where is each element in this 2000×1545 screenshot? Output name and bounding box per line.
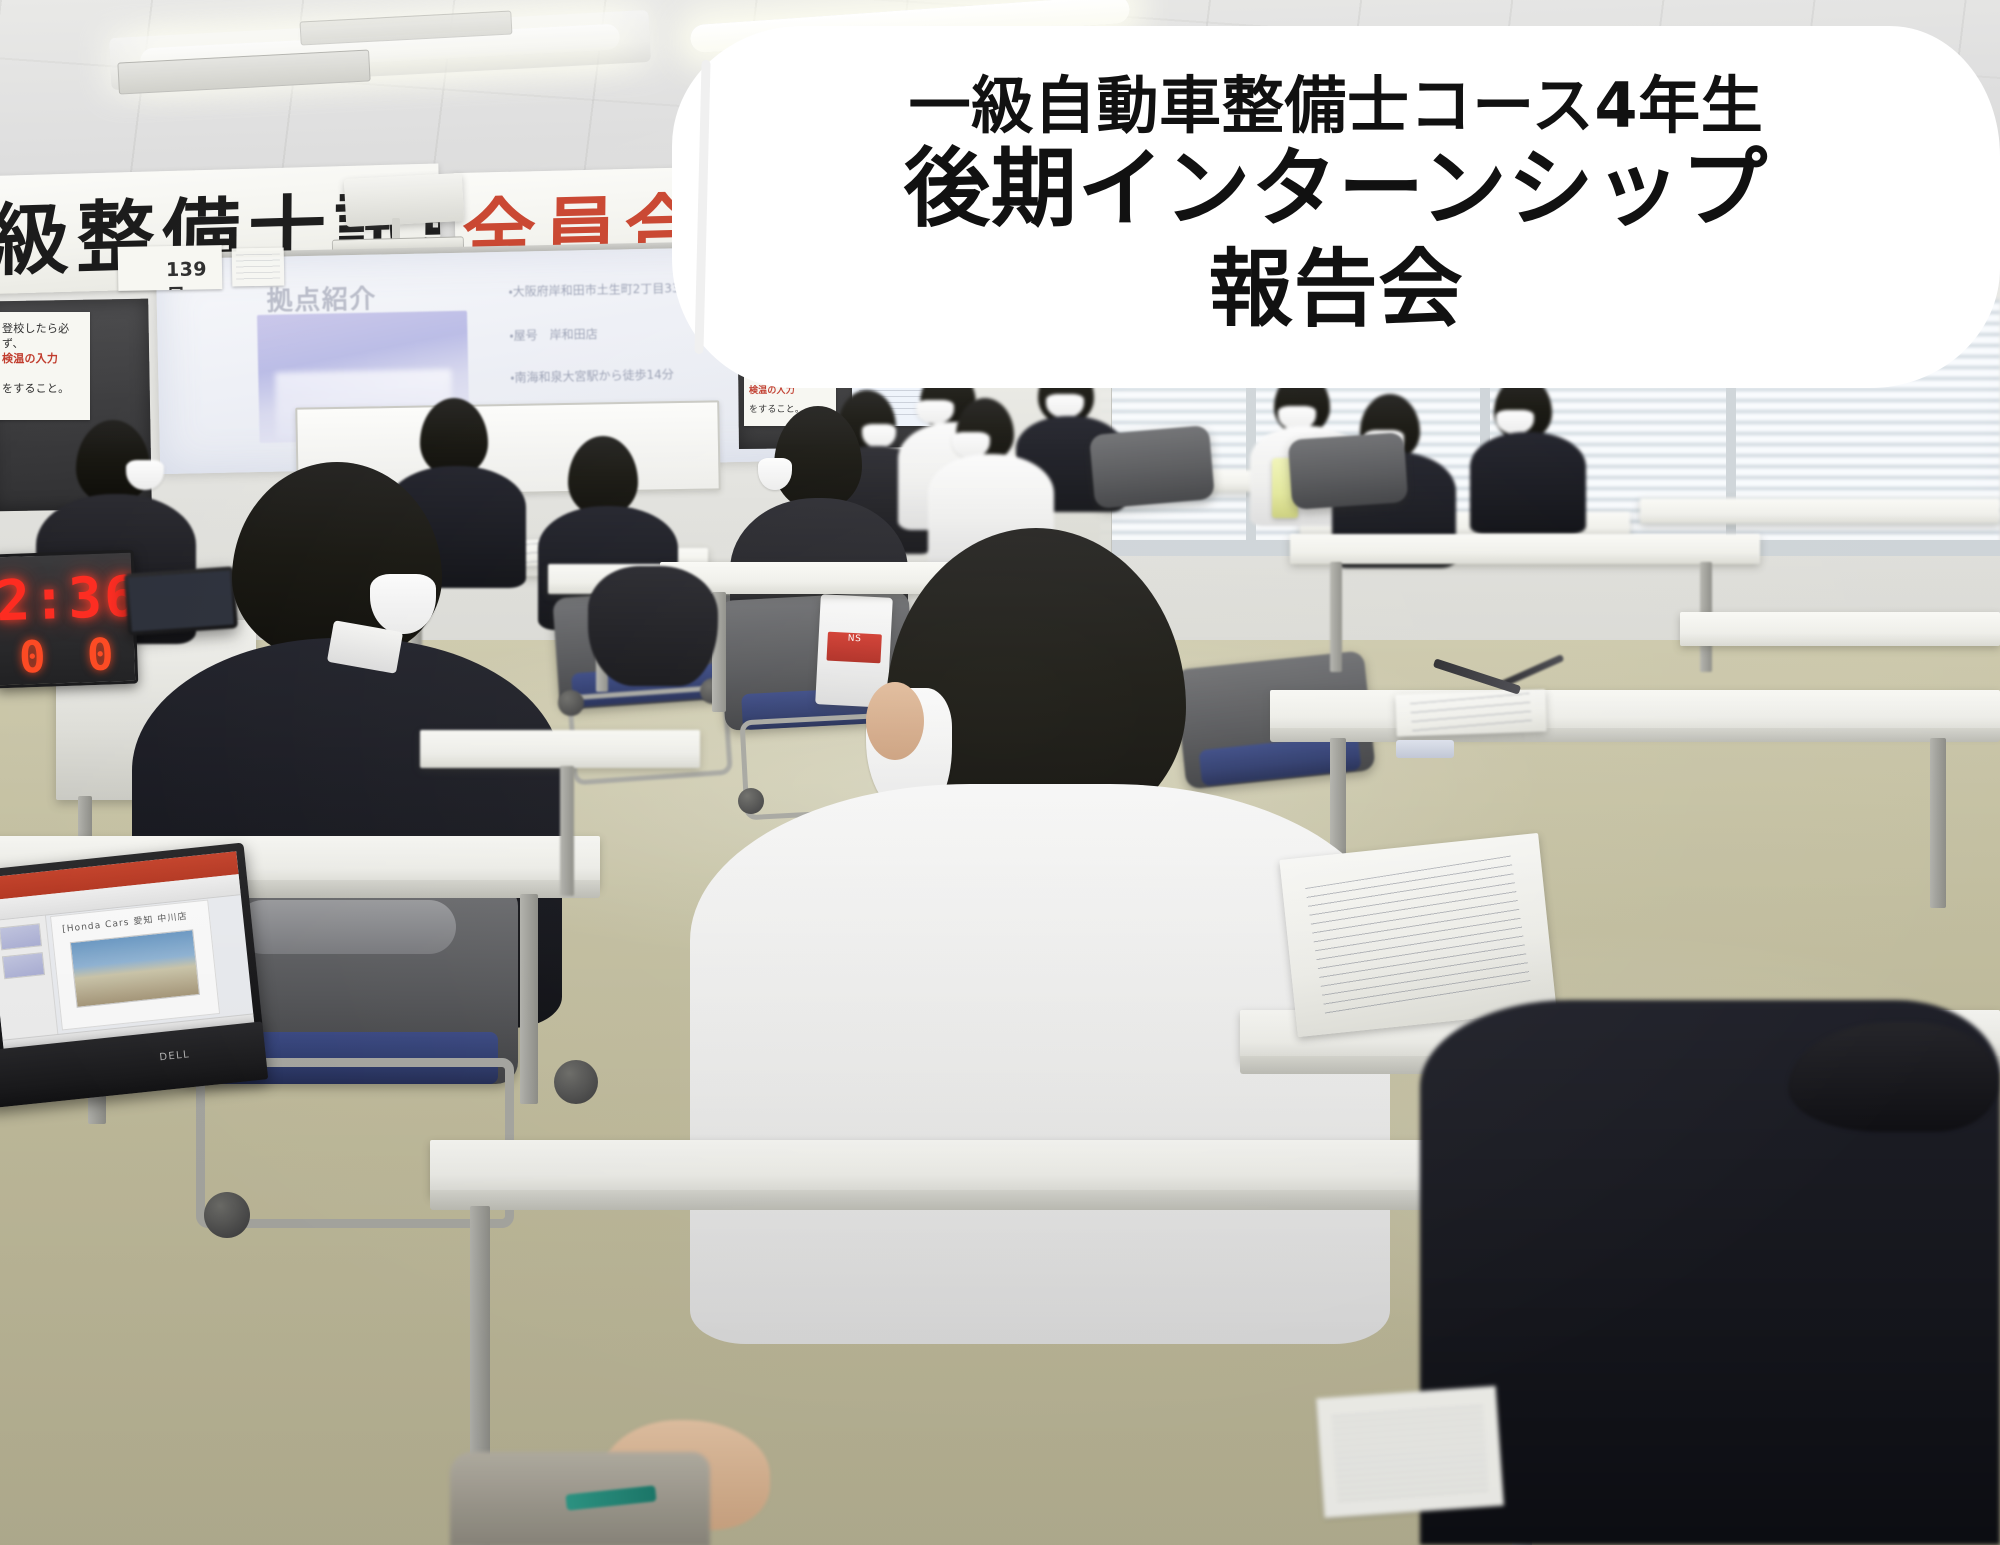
left-notice-paper: 登校したら必ず、 検温の入力 をすること。 [0,312,90,420]
led-score-row: 0 0 [0,629,135,685]
chair-left-caster-2 [554,1060,598,1104]
led-right-score: 0 [86,629,114,681]
notebook-lines [1410,693,1532,734]
left-notice-line-2: 検温の入力 [2,352,58,367]
led-left-score: 0 [18,632,46,684]
slide-bullet-2: ・屋号 岸和田店 [509,326,597,344]
eraser-foreground-right [1396,740,1454,758]
countdown-days: 139日 [166,257,223,291]
countdown-sign: 139日 [118,245,223,291]
screenshot-root: 一級整備士試験 全員合格!! 拠点紹介 ・大阪府岸和田市土生町2丁目33-33 … [0,0,2000,1545]
led-countdown-timer: 2:36 0 0 [0,550,138,689]
ppt-slide-canvas: [Honda Cars 愛知 中川店 [50,900,219,1031]
desk-far-right-1 [1640,498,2000,524]
laptop-brand-mark: DELL [159,1049,191,1063]
left-notice-line-3: をすること。 [2,382,69,397]
ppt-slide-image [70,930,200,1008]
notebook-lines [1305,855,1531,1018]
notebook-right-desk [1395,689,1546,736]
desk-left-mid-leg [560,766,574,896]
person-head [774,406,862,510]
chair-right-2 [1089,425,1215,509]
ceiling-projector [344,173,464,227]
desk-right-front-leg-2 [1930,738,1946,908]
exit-sign [232,248,285,287]
title-speech-bubble: 一級自動車整備士コース4年生 後期インターンシップ 報告会 [672,26,2000,388]
ppt-slide-rail [0,915,59,1040]
desk-left-mid [420,730,700,768]
speech-bubble-line-1: 一級自動車整備士コース4年生 [909,73,1764,138]
person-foreground-ear [866,682,924,760]
foreground-laptop-screen: [Honda Cars 愛知 中川店 [0,851,254,1050]
desk-foreground-bottom-edge [430,1190,1580,1210]
speech-bubble-line-2: 後期インターンシップ [904,144,1768,234]
desk-far-right-front [1680,612,2000,646]
slide-bullet-1: ・大阪府岸和田市土生町2丁目33-33 [508,280,699,300]
chair-left-caster-1 [204,1192,250,1238]
led-main-display: 2:36 [0,565,133,635]
chair-left-foreground-cutout [236,900,456,954]
slide-bullet-3: ・南海和泉大宮駅から徒歩14分 [510,366,674,386]
paper-bottom-right-lines [1332,1406,1489,1505]
speech-bubble-line-3: 報告会 [1209,245,1464,333]
person-head [568,436,638,516]
paper-bottom-right [1316,1386,1504,1518]
person-back-row-3 [1470,376,1590,526]
exit-sign-lines [236,254,280,283]
chair-right-3 [1288,432,1409,510]
speech-bubble-highlight-stripe [694,60,710,354]
person-torso [1470,432,1586,534]
left-notice-line-1: 登校したら必ず、 [2,322,90,352]
desk-foreground-bottom [430,1140,1580,1196]
ppt-thumbnail-1 [0,923,42,951]
desk-left-bottom-leg-2 [520,894,538,1104]
ppt-thumbnail-2 [2,952,45,980]
